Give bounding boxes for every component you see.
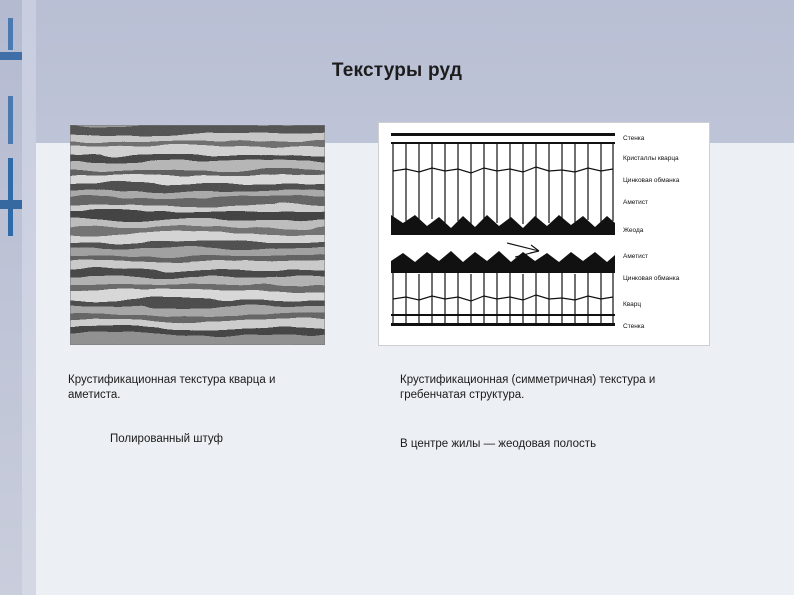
banded-quartz-photo [70, 125, 325, 345]
caption-right-main: Крустификационная (симметричная) текстур… [400, 373, 690, 403]
diagram-label-7: Кварц [623, 301, 641, 308]
diagram-label-group: Стенка Кристаллы кварца Цинковая обманка… [617, 133, 703, 339]
rail-bar-5 [0, 200, 22, 209]
caption-left-main: Крустификационная текстура кварца и амет… [68, 373, 318, 403]
diagram-label-2: Цинковая обманка [623, 177, 679, 184]
diagram-label-3: Аметист [623, 199, 648, 206]
rail-bar-3 [8, 96, 13, 144]
slide: Текстуры руд [0, 0, 794, 595]
diagram-label-4: Жеода [623, 227, 643, 234]
comb-structure-diagram [389, 131, 617, 337]
caption-right-sub: В центре жилы — жеодовая полость [400, 437, 700, 452]
diagram-label-5: Аметист [623, 253, 648, 260]
banded-quartz-image [70, 125, 325, 345]
slide-title: Текстуры руд [0, 60, 794, 82]
rail-bar-2 [0, 52, 22, 60]
diagram-label-0: Стенка [623, 135, 644, 142]
caption-left-sub: Полированный штуф [110, 432, 360, 447]
diagram-label-8: Стенка [623, 323, 644, 330]
comb-structure-drawing: Стенка Кристаллы кварца Цинковая обманка… [378, 122, 710, 346]
rail-bar-4 [8, 158, 13, 236]
diagram-label-6: Цинковая обманка [623, 275, 679, 282]
rail-light-strip [22, 0, 36, 595]
diagram-label-1: Кристаллы кварца [623, 155, 679, 162]
rail-bar-1 [8, 18, 13, 50]
